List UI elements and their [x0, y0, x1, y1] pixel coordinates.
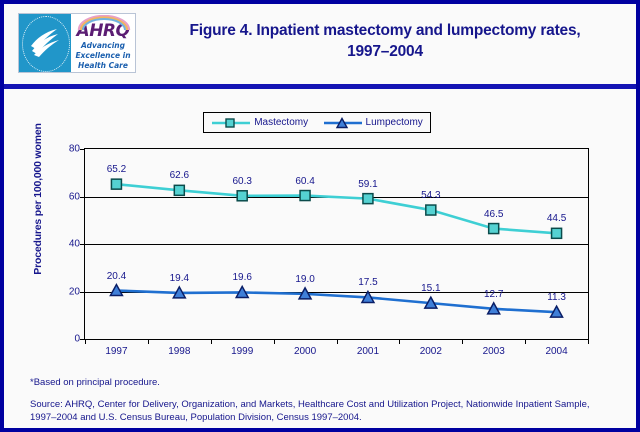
lumpectomy-data-label: 19.4	[170, 273, 189, 284]
lumpectomy-data-label: 19.0	[295, 274, 314, 285]
x-tick-label: 1997	[105, 346, 127, 357]
x-tick-mark	[85, 339, 86, 344]
mastectomy-marker	[426, 205, 436, 215]
lumpectomy-data-label: 12.7	[484, 289, 503, 300]
x-tick-label: 2001	[357, 346, 379, 357]
ahrq-tagline-1: Advancing	[71, 41, 135, 50]
mastectomy-marker	[363, 194, 373, 204]
lumpectomy-data-label: 15.1	[421, 283, 440, 294]
footnote-note: *Based on principal procedure.	[30, 376, 610, 389]
lumpectomy-data-label: 20.4	[107, 271, 126, 282]
footnote-source: Source: AHRQ, Center for Delivery, Organ…	[30, 398, 610, 424]
chart-container: Mastectomy Lumpectomy Procedures per 100…	[4, 92, 636, 364]
mastectomy-data-label: 60.4	[295, 176, 314, 187]
y-tick-label: 80	[69, 144, 80, 155]
mastectomy-data-label: 46.5	[484, 209, 503, 220]
y-tick-label: 40	[69, 239, 80, 250]
y-axis-label: Procedures per 100,000 women	[32, 114, 44, 284]
ahrq-tagline-3: Health Care	[71, 61, 135, 70]
lumpectomy-legend-marker-icon	[323, 117, 363, 129]
y-tick-label: 20	[69, 286, 80, 297]
figure-page: AHRQ Advancing Excellence in Health Care…	[0, 0, 640, 432]
figure-title-line-1: Figure 4. Inpatient mastectomy and lumpe…	[150, 20, 620, 41]
legend-label-lumpectomy: Lumpectomy	[366, 117, 423, 128]
x-tick-mark	[211, 339, 212, 344]
x-tick-mark	[148, 339, 149, 344]
mastectomy-marker	[489, 224, 499, 234]
plot-area: 020406080 199719981999200020012002200320…	[84, 148, 589, 340]
mastectomy-marker	[552, 228, 562, 238]
ahrq-arc-icon	[77, 15, 131, 31]
mastectomy-data-label: 44.5	[547, 213, 566, 224]
x-tick-label: 2000	[294, 346, 316, 357]
mastectomy-data-label: 59.1	[358, 179, 377, 190]
ahrq-logo: AHRQ Advancing Excellence in Health Care	[18, 13, 136, 73]
ahrq-wordmark: AHRQ Advancing Excellence in Health Care	[71, 14, 135, 72]
hhs-seal-icon	[19, 14, 71, 72]
lumpectomy-data-label: 17.5	[358, 277, 377, 288]
x-tick-label: 2003	[483, 346, 505, 357]
x-tick-label: 1999	[231, 346, 253, 357]
x-tick-mark	[588, 339, 589, 344]
mastectomy-marker	[174, 185, 184, 195]
mastectomy-marker	[111, 179, 121, 189]
ahrq-tagline-2: Excellence in	[71, 51, 135, 60]
mastectomy-marker	[300, 191, 310, 201]
x-tick-label: 1998	[168, 346, 190, 357]
x-tick-label: 2004	[545, 346, 567, 357]
figure-footnotes: *Based on principal procedure. Source: A…	[30, 376, 610, 424]
y-tick-label: 60	[69, 191, 80, 202]
figure-title: Figure 4. Inpatient mastectomy and lumpe…	[150, 20, 620, 62]
figure-header: AHRQ Advancing Excellence in Health Care…	[4, 4, 636, 88]
x-tick-mark	[462, 339, 463, 344]
lumpectomy-data-label: 19.6	[232, 272, 251, 283]
legend-item-mastectomy: Mastectomy	[211, 117, 308, 129]
figure-title-line-2: 1997–2004	[150, 41, 620, 62]
header-divider	[4, 84, 636, 89]
x-tick-mark	[274, 339, 275, 344]
mastectomy-data-label: 60.3	[232, 176, 251, 187]
legend-label-mastectomy: Mastectomy	[254, 117, 308, 128]
legend-item-lumpectomy: Lumpectomy	[323, 117, 423, 129]
mastectomy-data-label: 62.6	[170, 170, 189, 181]
hhs-bird-icon	[27, 26, 63, 58]
x-tick-mark	[525, 339, 526, 344]
mastectomy-marker	[237, 191, 247, 201]
lumpectomy-data-label: 11.3	[547, 292, 566, 303]
x-tick-label: 2002	[420, 346, 442, 357]
mastectomy-data-label: 65.2	[107, 164, 126, 175]
y-tick-label: 0	[74, 334, 80, 345]
series-layer	[85, 149, 588, 339]
mastectomy-data-label: 54.3	[421, 190, 440, 201]
x-tick-mark	[337, 339, 338, 344]
chart-legend: Mastectomy Lumpectomy	[203, 112, 431, 133]
x-tick-mark	[399, 339, 400, 344]
mastectomy-legend-marker-icon	[211, 117, 251, 129]
